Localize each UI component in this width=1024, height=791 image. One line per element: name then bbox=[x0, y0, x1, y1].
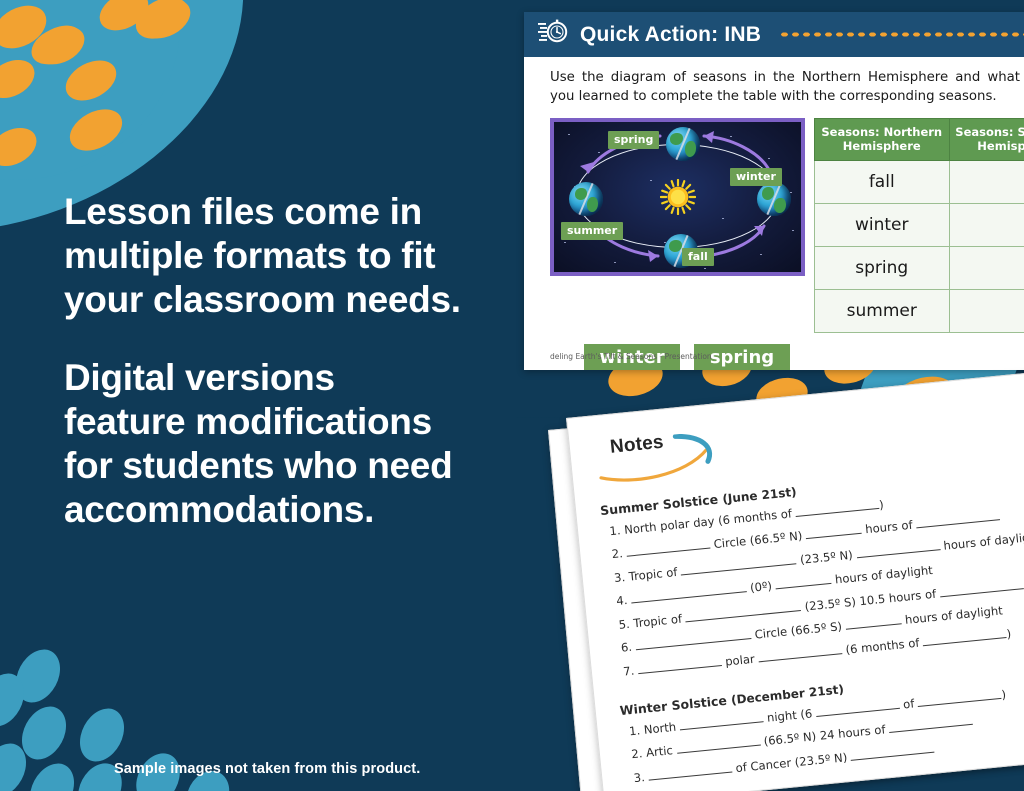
answer-blank[interactable] bbox=[680, 721, 764, 730]
answer-blank[interactable] bbox=[627, 548, 711, 557]
seasons-table-wrapper: Seasons: Northern Hemisphere Seasons: So… bbox=[814, 118, 1024, 333]
answer-blank[interactable] bbox=[776, 583, 832, 589]
presentation-slide-card: Quick Action: INB Use the diagram of sea… bbox=[524, 12, 1024, 370]
seasons-table: Seasons: Northern Hemisphere Seasons: So… bbox=[814, 118, 1024, 333]
season-label-fall: fall bbox=[682, 248, 714, 266]
answer-blank[interactable] bbox=[816, 707, 900, 716]
headline-line: multiple formats to fit bbox=[64, 234, 534, 278]
teal-dot bbox=[71, 701, 133, 769]
cell-southern-season[interactable] bbox=[949, 203, 1024, 246]
slide-footer-text: deling Earth's Tilt & Seasons - Presenta… bbox=[550, 352, 712, 361]
season-label-summer: summer bbox=[561, 222, 623, 240]
headline-line: accommodations. bbox=[64, 488, 534, 532]
answer-blank[interactable] bbox=[923, 637, 1007, 646]
slide-content-row: spring winter summer fall Seasons: North… bbox=[550, 118, 1024, 333]
answer-blank[interactable] bbox=[796, 507, 880, 516]
answer-blank[interactable] bbox=[851, 751, 935, 760]
table-row: fall bbox=[815, 160, 1024, 203]
earth-seasons-orbit-diagram: spring winter summer fall bbox=[550, 118, 805, 276]
cell-southern-season[interactable] bbox=[949, 289, 1024, 332]
answer-blank[interactable] bbox=[759, 653, 843, 662]
column-header-northern: Seasons: Northern Hemisphere bbox=[815, 118, 950, 160]
headline-line: Digital versions bbox=[64, 356, 534, 400]
disclaimer-text: Sample images not taken from this produc… bbox=[114, 761, 420, 777]
answer-blank[interactable] bbox=[636, 638, 752, 650]
answer-blank[interactable] bbox=[686, 609, 802, 621]
promo-slide-canvas: Lesson files come in multiple formats to… bbox=[0, 0, 1024, 791]
cell-southern-season[interactable] bbox=[949, 246, 1024, 289]
headline-line: Lesson files come in bbox=[64, 190, 534, 234]
cell-northern-season[interactable]: winter bbox=[815, 203, 950, 246]
answer-blank[interactable] bbox=[918, 697, 1002, 706]
headline-line: your classroom needs. bbox=[64, 278, 534, 322]
orbit-direction-arrows bbox=[554, 122, 801, 272]
cell-southern-season[interactable] bbox=[949, 160, 1024, 203]
orange-dotted-rule-icon bbox=[779, 31, 1024, 38]
season-label-winter: winter bbox=[730, 168, 782, 186]
answer-blank[interactable] bbox=[681, 563, 797, 575]
summer-solstice-date: (June 21st) bbox=[722, 485, 797, 506]
slide-body: Use the diagram of seasons in the Northe… bbox=[524, 57, 1024, 370]
answer-blank[interactable] bbox=[846, 623, 902, 629]
answer-blank[interactable] bbox=[806, 533, 862, 539]
speed-clock-icon bbox=[538, 19, 568, 50]
slide-instructions: Use the diagram of seasons in the Northe… bbox=[550, 69, 1020, 107]
season-label-spring: spring bbox=[608, 131, 659, 149]
copy-spacer bbox=[64, 322, 534, 356]
answer-blank[interactable] bbox=[889, 724, 973, 733]
notes-paper-front: Notes Summer Solstice (June 21st) North … bbox=[566, 367, 1024, 791]
cell-northern-season[interactable]: fall bbox=[815, 160, 950, 203]
teal-dot bbox=[21, 756, 83, 791]
answer-blank[interactable] bbox=[649, 771, 733, 780]
table-row: summer bbox=[815, 289, 1024, 332]
slide-title: Quick Action: INB bbox=[580, 23, 761, 47]
answer-blank[interactable] bbox=[677, 745, 761, 754]
headline-line: for students who need bbox=[64, 444, 534, 488]
answer-blank[interactable] bbox=[631, 591, 747, 603]
table-row: winter bbox=[815, 203, 1024, 246]
table-header-row: Seasons: Northern Hemisphere Seasons: So… bbox=[815, 118, 1024, 160]
answer-blank[interactable] bbox=[940, 588, 1024, 597]
cell-northern-season[interactable]: spring bbox=[815, 246, 950, 289]
table-row: spring bbox=[815, 246, 1024, 289]
column-header-southern: Seasons: Southern Hemisphere bbox=[949, 118, 1024, 160]
answer-blank[interactable] bbox=[638, 664, 722, 673]
headline-line: feature modifications bbox=[64, 400, 534, 444]
answer-blank[interactable] bbox=[916, 519, 1000, 528]
notes-body: Summer Solstice (June 21st) North polar … bbox=[598, 458, 1024, 786]
cell-northern-season[interactable]: summer bbox=[815, 289, 950, 332]
slide-header: Quick Action: INB bbox=[524, 12, 1024, 57]
answer-blank[interactable] bbox=[856, 549, 940, 558]
promo-copy: Lesson files come in multiple formats to… bbox=[64, 190, 534, 532]
